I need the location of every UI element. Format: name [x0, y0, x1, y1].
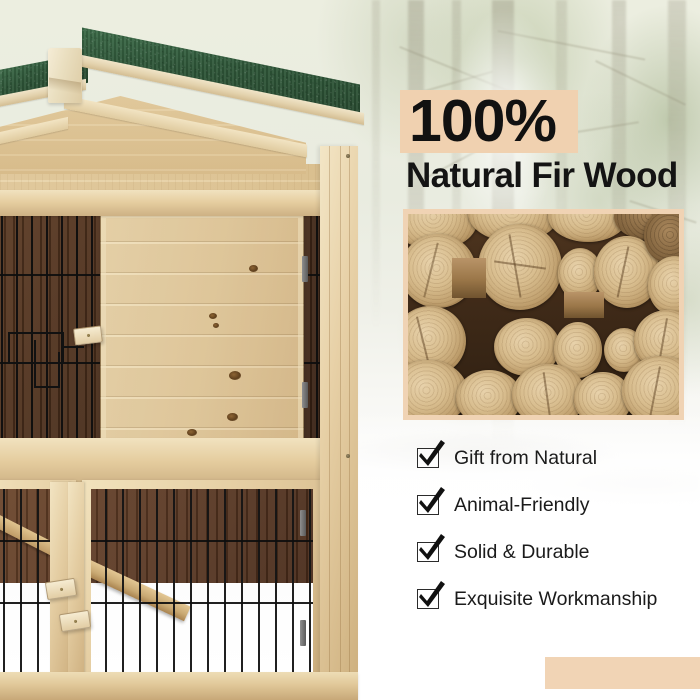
screw-icon: [346, 154, 350, 158]
corner-accent-bar: [545, 657, 700, 689]
checkbox-checked-icon: [417, 495, 439, 515]
list-item-label: Exquisite Workmanship: [454, 582, 657, 616]
hutch-upper-solid-door: [100, 212, 304, 444]
hutch-corner-post-right: [320, 146, 358, 700]
hutch-lower-mesh-door-right: [82, 480, 322, 696]
list-item: Exquisite Workmanship: [417, 582, 687, 629]
feature-list: Gift from Natural Animal-Friendly Solid …: [417, 441, 687, 629]
hutch-base-skirt: [0, 672, 358, 700]
hutch-upper-door-latch: [73, 325, 103, 345]
headline-subtitle: Natural Fir Wood: [406, 158, 678, 194]
stacked-fir-logs-photo: [408, 214, 679, 415]
list-item: Animal-Friendly: [417, 488, 687, 535]
log-side-face: [452, 258, 486, 298]
hutch-lower-door-hinge-top: [300, 510, 306, 536]
log-photo-frame: [403, 209, 684, 420]
headline-percent: 100%: [409, 92, 556, 151]
hutch-roof-ridge-cap: [48, 48, 82, 103]
list-item: Gift from Natural: [417, 441, 687, 488]
product-feature-graphic: 100% Natural Fir Wood: [0, 0, 700, 700]
hutch-rail-top: [0, 190, 320, 216]
checkbox-checked-icon: [417, 542, 439, 562]
screw-icon: [346, 454, 350, 458]
checkbox-checked-icon: [417, 589, 439, 609]
log: [478, 224, 562, 310]
list-item-label: Solid & Durable: [454, 535, 590, 569]
hutch-upper-door-hinge-bottom: [302, 382, 308, 408]
hutch-upper-door-hinge-top: [302, 256, 308, 282]
hutch-wire-hayrack: [8, 332, 84, 390]
hutch-rail-middle: [0, 438, 320, 486]
checkbox-checked-icon: [417, 448, 439, 468]
log-side-face: [564, 292, 604, 318]
list-item: Solid & Durable: [417, 535, 687, 582]
list-item-label: Animal-Friendly: [454, 488, 589, 522]
wooden-rabbit-hutch: [0, 40, 386, 700]
hutch-lower-door-hinge-bottom: [300, 620, 306, 646]
list-item-label: Gift from Natural: [454, 441, 597, 475]
